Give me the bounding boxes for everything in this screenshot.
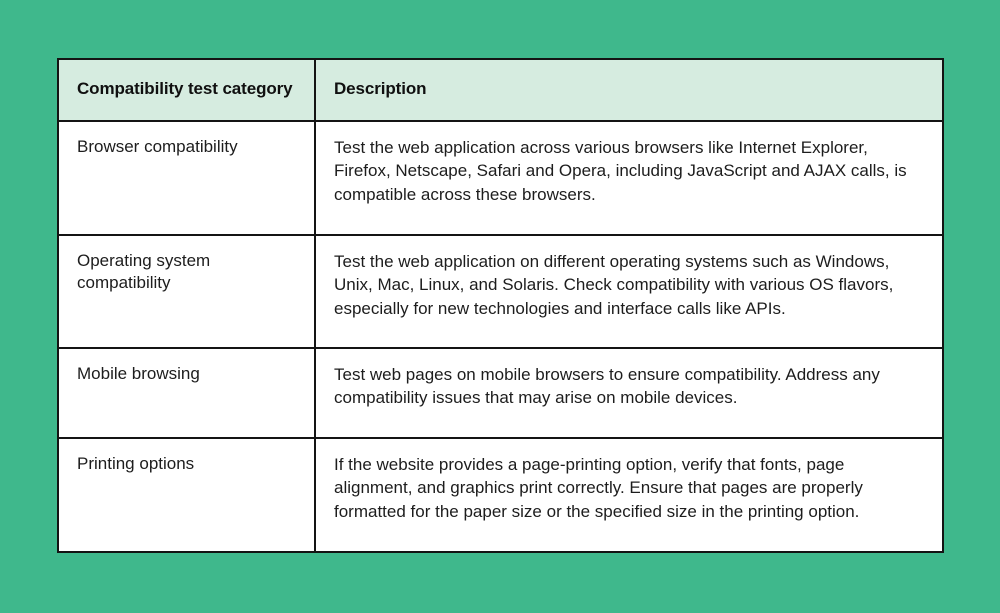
row-description-text: If the website provides a page-printing … — [316, 439, 942, 539]
row-description-text: Test the web application across various … — [316, 122, 942, 222]
compatibility-testing-table: Compatibility test category Description … — [59, 60, 942, 551]
row-category-label: Mobile browsing — [59, 349, 314, 401]
row-description-cell: Test the web application on different op… — [315, 235, 942, 348]
table-body: Browser compatibility Test the web appli… — [59, 121, 942, 551]
table-header-row: Compatibility test category Description — [59, 60, 942, 121]
row-category-cell: Mobile browsing — [59, 348, 315, 438]
row-description-text: Test the web application on different op… — [316, 236, 942, 336]
column-header-category-label: Compatibility test category — [59, 60, 314, 120]
page-root: Compatibility test category Description … — [0, 0, 1000, 613]
row-category-cell: Browser compatibility — [59, 121, 315, 235]
row-description-text: Test web pages on mobile browsers to ens… — [316, 349, 942, 426]
row-category-label: Printing options — [59, 439, 314, 491]
row-category-label: Operating system compatibility — [59, 236, 314, 310]
column-header-description: Description — [315, 60, 942, 121]
table-row: Printing options If the website provides… — [59, 438, 942, 551]
table-row: Browser compatibility Test the web appli… — [59, 121, 942, 235]
compatibility-testing-table-container: Compatibility test category Description … — [57, 58, 944, 553]
row-category-cell: Operating system compatibility — [59, 235, 315, 348]
table-row: Mobile browsing Test web pages on mobile… — [59, 348, 942, 438]
row-description-cell: If the website provides a page-printing … — [315, 438, 942, 551]
table-header: Compatibility test category Description — [59, 60, 942, 121]
row-description-cell: Test web pages on mobile browsers to ens… — [315, 348, 942, 438]
row-description-cell: Test the web application across various … — [315, 121, 942, 235]
column-header-description-label: Description — [316, 60, 942, 120]
column-header-category: Compatibility test category — [59, 60, 315, 121]
row-category-cell: Printing options — [59, 438, 315, 551]
table-row: Operating system compatibility Test the … — [59, 235, 942, 348]
row-category-label: Browser compatibility — [59, 122, 314, 174]
